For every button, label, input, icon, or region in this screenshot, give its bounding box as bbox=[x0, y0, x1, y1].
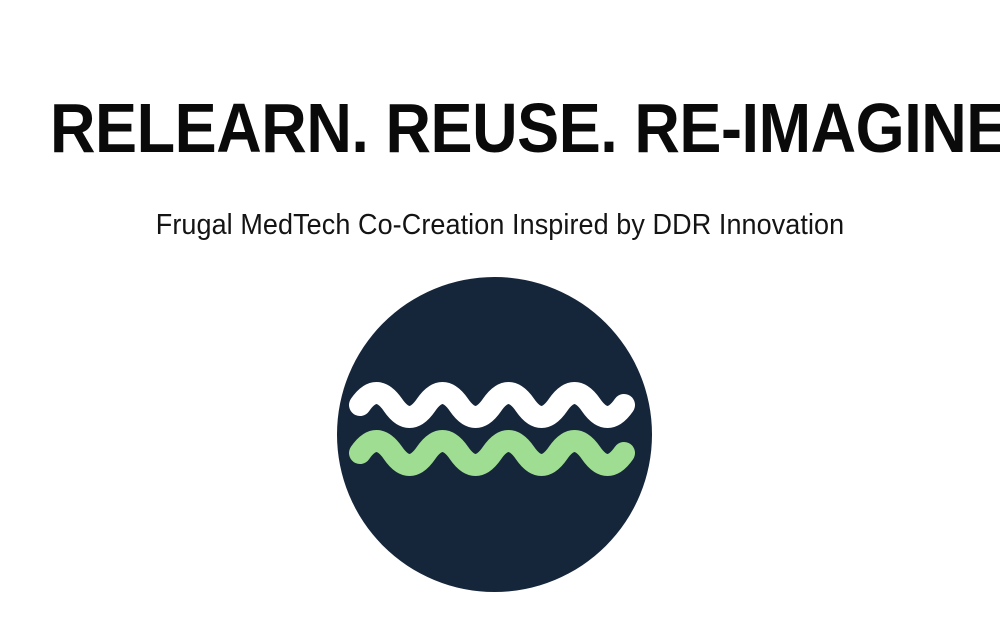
page-title: RELEARN. REUSE. RE-IMAGINE. bbox=[50, 91, 950, 167]
wave-top-white bbox=[360, 393, 624, 417]
page-subtitle: Frugal MedTech Co-Creation Inspired by D… bbox=[35, 207, 965, 243]
wave-bottom-green bbox=[360, 441, 624, 465]
wave-circle-logo-icon bbox=[337, 277, 652, 592]
title-slide: RELEARN. REUSE. RE-IMAGINE. Frugal MedTe… bbox=[0, 0, 1000, 628]
logo bbox=[337, 277, 652, 592]
